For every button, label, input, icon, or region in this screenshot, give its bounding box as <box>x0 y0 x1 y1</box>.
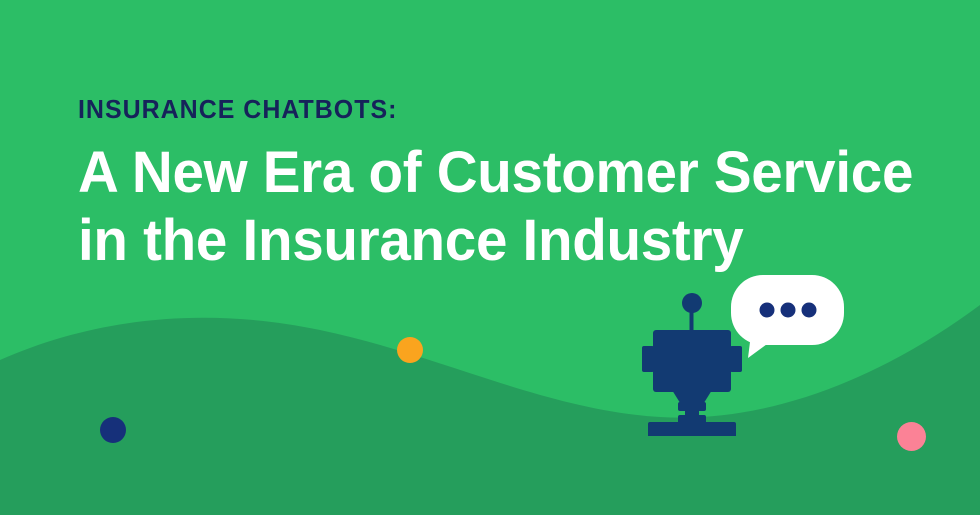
banner-headline: A New Era of Customer Service in the Ins… <box>78 139 936 274</box>
bubble-dot-1 <box>760 303 775 318</box>
headline-line-2: in the Insurance Industry <box>78 207 936 274</box>
bubble-dot-3 <box>802 303 817 318</box>
robot-head <box>653 330 731 392</box>
insurance-chatbots-banner: INSURANCE CHATBOTS: A New Era of Custome… <box>0 0 980 515</box>
navy-dot <box>100 417 126 443</box>
robot-ear-left <box>642 346 654 372</box>
headline-line-1: A New Era of Customer Service <box>78 139 936 206</box>
banner-eyebrow: INSURANCE CHATBOTS: <box>78 96 923 123</box>
bubble-dot-2 <box>781 303 796 318</box>
chat-speech-bubble-icon <box>726 268 851 363</box>
orange-dot <box>397 337 423 363</box>
robot-base <box>648 422 736 436</box>
pink-dot <box>897 422 926 451</box>
banner-text-block: INSURANCE CHATBOTS: A New Era of Custome… <box>78 96 958 274</box>
